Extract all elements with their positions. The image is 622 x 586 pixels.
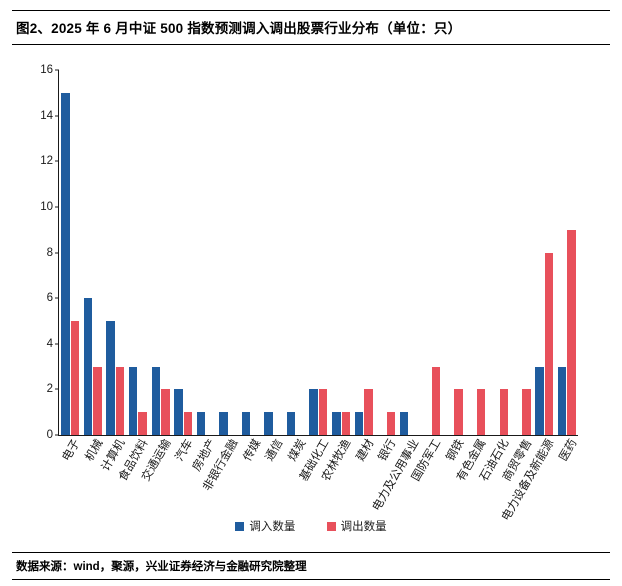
figure-page: 图2、2025 年 6 月中证 500 指数预测调入调出股票行业分布（单位：只）…: [0, 0, 622, 586]
bar-in: [287, 412, 296, 435]
bar-out: [93, 367, 102, 435]
bar-in: [558, 367, 567, 435]
bar-out: [342, 412, 351, 435]
bar-group: [375, 70, 398, 435]
x-tick-label: 银行: [378, 438, 399, 464]
bar-out: [319, 389, 328, 435]
bar-group: [82, 70, 105, 435]
chart-area: 0246810121416 电子机械计算机食品饮料交通运输汽车房地产非银行金融传…: [12, 52, 610, 544]
bar-group: [420, 70, 443, 435]
bar-out: [116, 367, 125, 435]
bar-in: [152, 367, 161, 435]
bar-in: [332, 412, 341, 435]
bar-group: [533, 70, 556, 435]
bar-out: [545, 253, 554, 436]
x-tick-label: 传媒: [242, 438, 263, 464]
x-tick-label: 机械: [84, 438, 105, 464]
bar-out: [161, 389, 170, 435]
y-tick-mark: [55, 343, 59, 344]
bar-group: [510, 70, 533, 435]
bar-in: [174, 389, 183, 435]
bar-group: [488, 70, 511, 435]
bar-out: [567, 230, 576, 435]
y-tick-mark: [55, 252, 59, 253]
bar-group: [465, 70, 488, 435]
figure-source: 数据来源：wind，聚源，兴业证券经济与金融研究院整理: [12, 552, 610, 580]
bar-out: [477, 389, 486, 435]
bar-group: [285, 70, 308, 435]
x-axis-labels: 电子机械计算机食品饮料交通运输汽车房地产非银行金融传媒通信煤炭基础化工农林牧渔建…: [58, 438, 578, 558]
bar-group: [352, 70, 375, 435]
y-tick-mark: [55, 206, 59, 207]
bar-group: [262, 70, 285, 435]
y-tick-mark: [55, 435, 59, 436]
bar-in: [309, 389, 318, 435]
bar-in: [535, 367, 544, 435]
bar-group: [194, 70, 217, 435]
x-tick-label: 建材: [355, 438, 376, 464]
bar-group: [127, 70, 150, 435]
bar-in: [61, 93, 70, 435]
bar-in: [129, 367, 138, 435]
x-tick-label: 医药: [558, 438, 579, 464]
bar-in: [219, 412, 228, 435]
legend-label-in: 调入数量: [249, 521, 295, 533]
bar-group: [240, 70, 263, 435]
x-tick-label: 通信: [265, 438, 286, 464]
bar-in: [355, 412, 364, 435]
bar-in: [400, 412, 409, 435]
y-tick-mark: [55, 389, 59, 390]
legend-label-out: 调出数量: [341, 521, 387, 533]
x-tick-label: 汽车: [175, 438, 196, 464]
x-tick-label: 钢铁: [445, 438, 466, 464]
figure-title: 图2、2025 年 6 月中证 500 指数预测调入调出股票行业分布（单位：只）: [12, 10, 610, 45]
y-tick-mark: [55, 161, 59, 162]
plot-region: 0246810121416: [58, 70, 578, 436]
legend-swatch-out: [327, 522, 336, 531]
x-tick-label: 电子: [62, 438, 83, 464]
bar-group: [217, 70, 240, 435]
bar-group: [149, 70, 172, 435]
bar-group: [555, 70, 578, 435]
y-tick-mark: [55, 115, 59, 116]
legend-item-in: 调入数量: [235, 518, 295, 534]
y-tick-mark: [55, 298, 59, 299]
bar-group: [397, 70, 420, 435]
bar-group: [307, 70, 330, 435]
bar-group: [172, 70, 195, 435]
legend-item-out: 调出数量: [327, 518, 387, 534]
bar-out: [364, 389, 373, 435]
bar-out: [184, 412, 193, 435]
bar-group: [443, 70, 466, 435]
legend-swatch-in: [235, 522, 244, 531]
x-tick-label: 煤炭: [287, 438, 308, 464]
bar-out: [432, 367, 441, 435]
bar-group: [59, 70, 82, 435]
bar-in: [84, 298, 93, 435]
bar-group: [330, 70, 353, 435]
bar-in: [242, 412, 251, 435]
bar-out: [500, 389, 509, 435]
bar-out: [387, 412, 396, 435]
bar-out: [138, 412, 147, 435]
bar-in: [197, 412, 206, 435]
bar-out: [71, 321, 80, 435]
bar-out: [522, 389, 531, 435]
bar-out: [454, 389, 463, 435]
bar-group: [104, 70, 127, 435]
y-tick-mark: [55, 70, 59, 71]
chart-legend: 调入数量 调出数量: [12, 518, 610, 534]
bar-in: [264, 412, 273, 435]
bar-in: [106, 321, 115, 435]
bar-series-container: [59, 70, 578, 435]
